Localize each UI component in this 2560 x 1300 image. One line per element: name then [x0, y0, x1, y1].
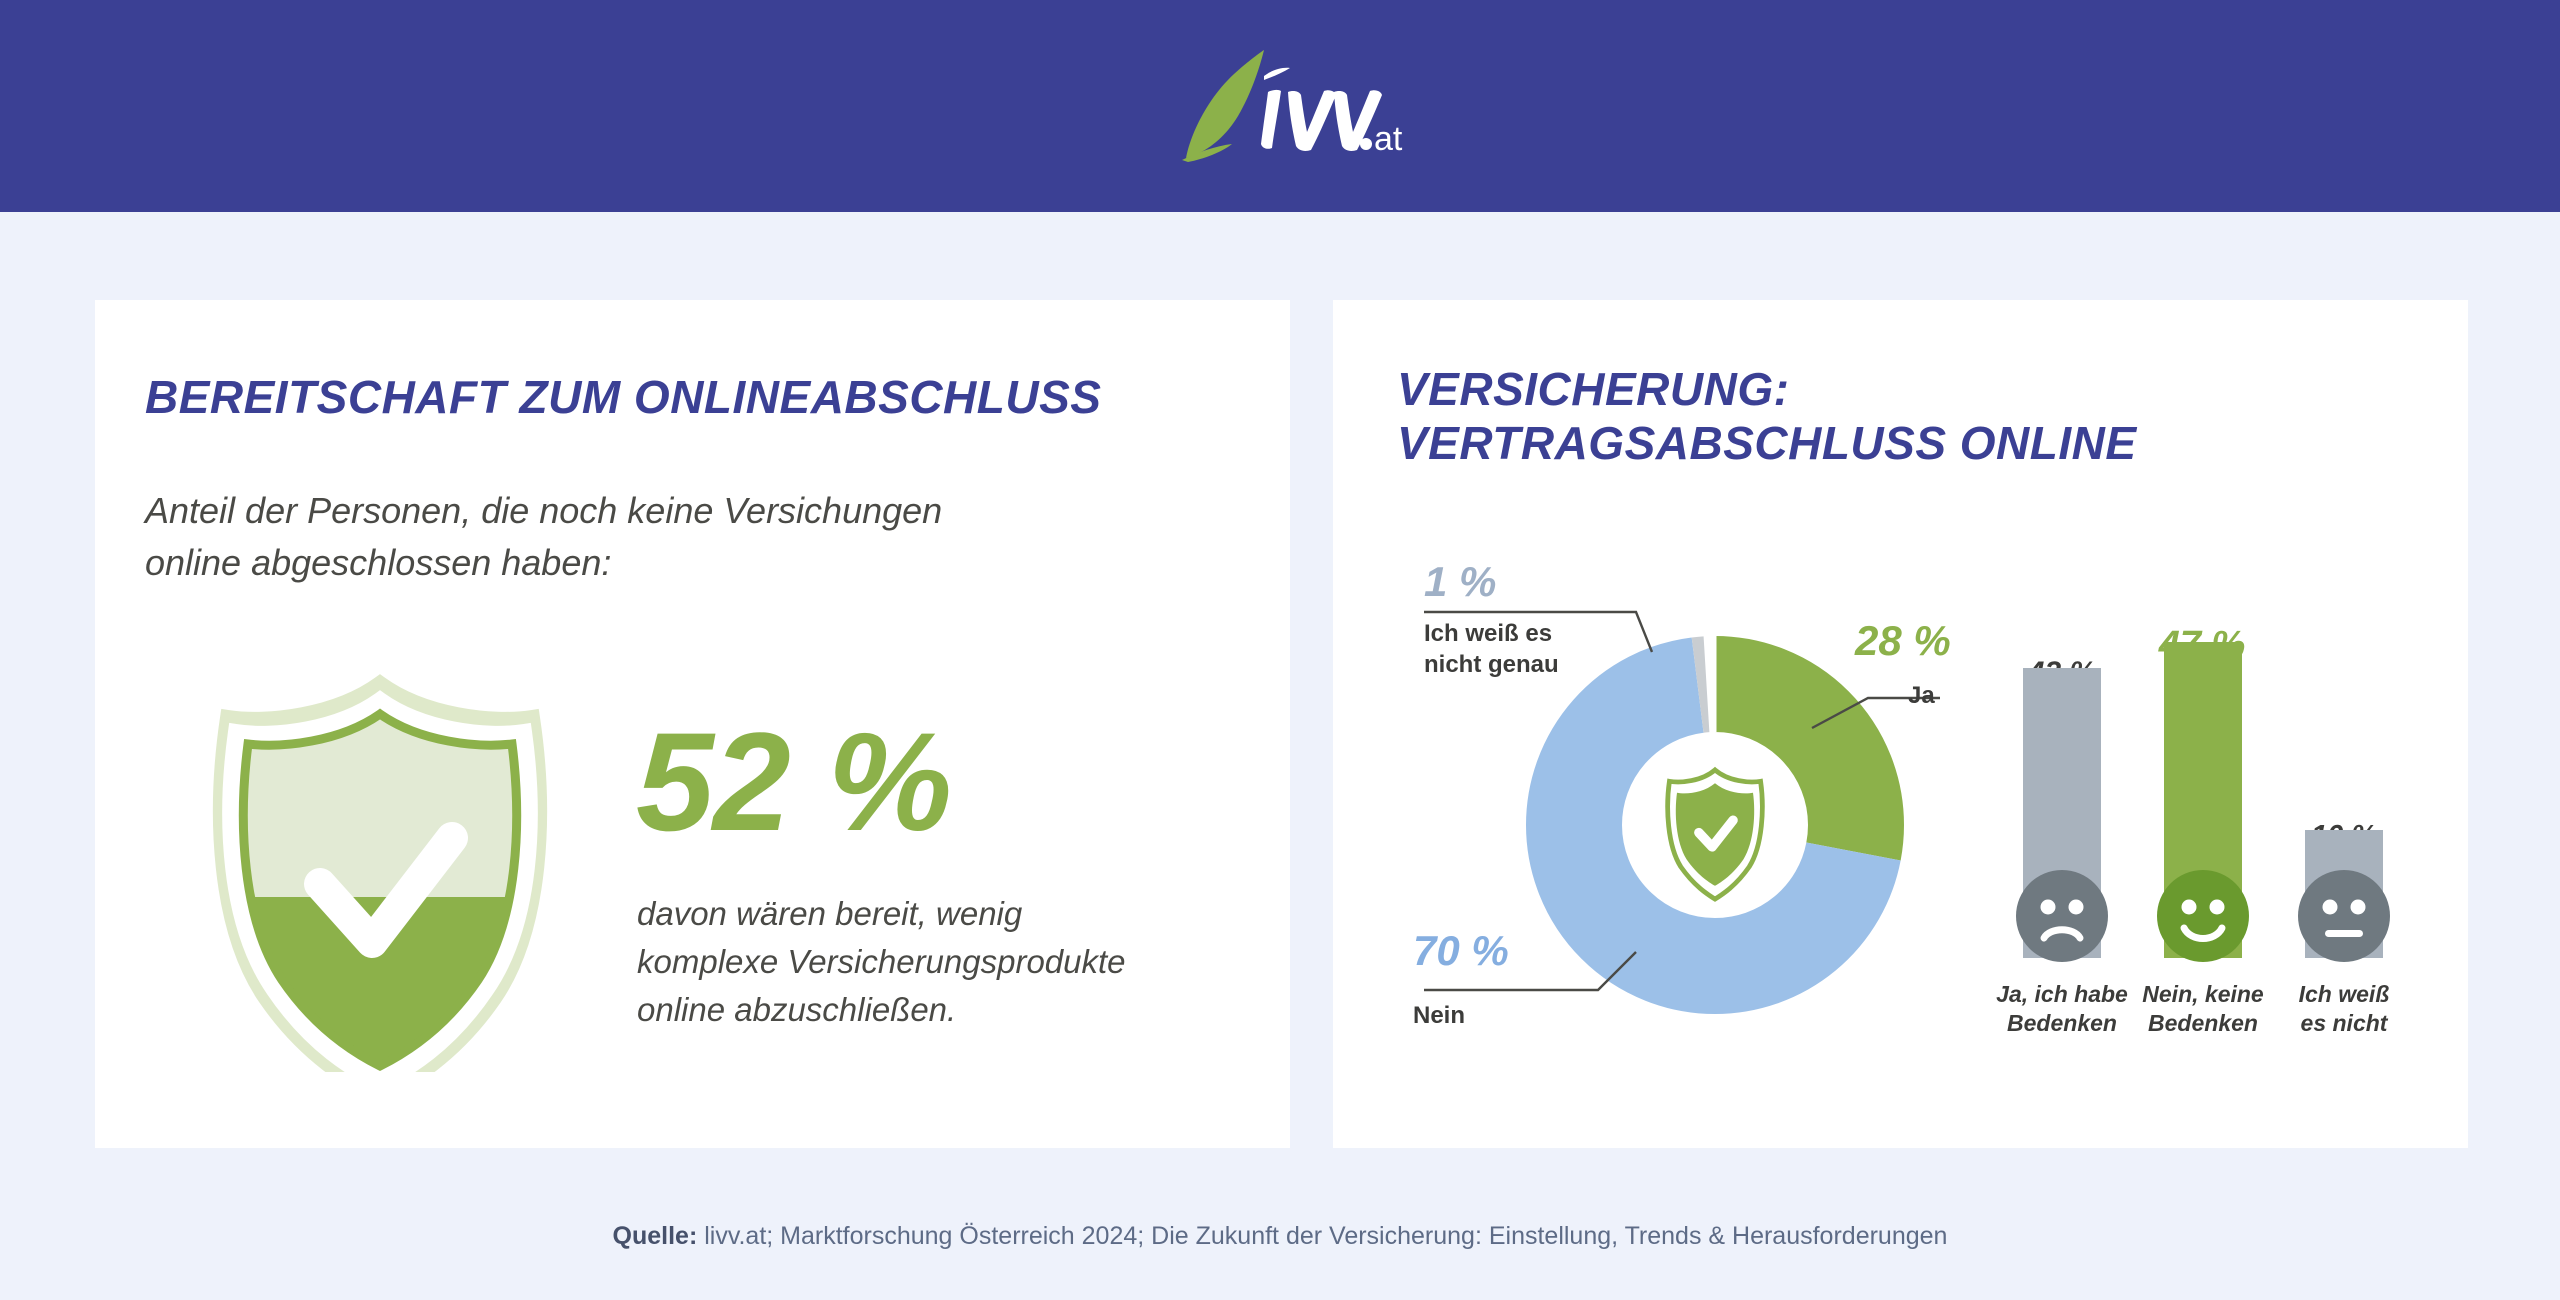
neutral-face-icon	[2298, 870, 2390, 962]
donut-label-nein: Nein	[1413, 1000, 1465, 1031]
source-text: livv.at; Marktforschung Österreich 2024;…	[697, 1222, 1947, 1250]
happy-face-icon	[2157, 870, 2249, 962]
page-title-left: BEREITSCHAFT ZUM ONLINEABSCHLUSS	[145, 370, 1101, 424]
bar-chart: 43 % Ja, ich habe Bedenken 47 % Nein, ke…	[1990, 600, 2420, 1070]
livv-at-logo[interactable]: at	[1168, 40, 1408, 170]
stat-caption: davon wären bereit, wenig komplexe Versi…	[637, 890, 1237, 1034]
source-line: Quelle: livv.at; Marktforschung Österrei…	[0, 1222, 2560, 1251]
stat-52-percent: 52 %	[636, 712, 951, 852]
svg-text:at: at	[1374, 120, 1403, 158]
shield-check-icon	[190, 672, 570, 1072]
source-label: Quelle:	[613, 1222, 698, 1250]
donut-value-weiss-nicht: 1 %	[1424, 561, 1496, 603]
page-title-right: VERSICHERUNG: VERTRAGSABSCHLUSS ONLINE	[1397, 362, 2137, 471]
donut-label-ja: Ja	[1908, 680, 1935, 711]
bar-caption-2: Ich weiß es nicht	[2254, 980, 2434, 1039]
left-subtitle: Anteil der Personen, die noch keine Vers…	[145, 485, 1145, 589]
donut-value-nein: 70 %	[1413, 930, 1509, 972]
logo-svg: at	[1168, 40, 1408, 170]
donut-label-weiss-nicht: Ich weiß es nicht genau	[1424, 618, 1559, 680]
sad-face-icon	[2016, 870, 2108, 962]
donut-value-ja: 28 %	[1855, 620, 1951, 662]
